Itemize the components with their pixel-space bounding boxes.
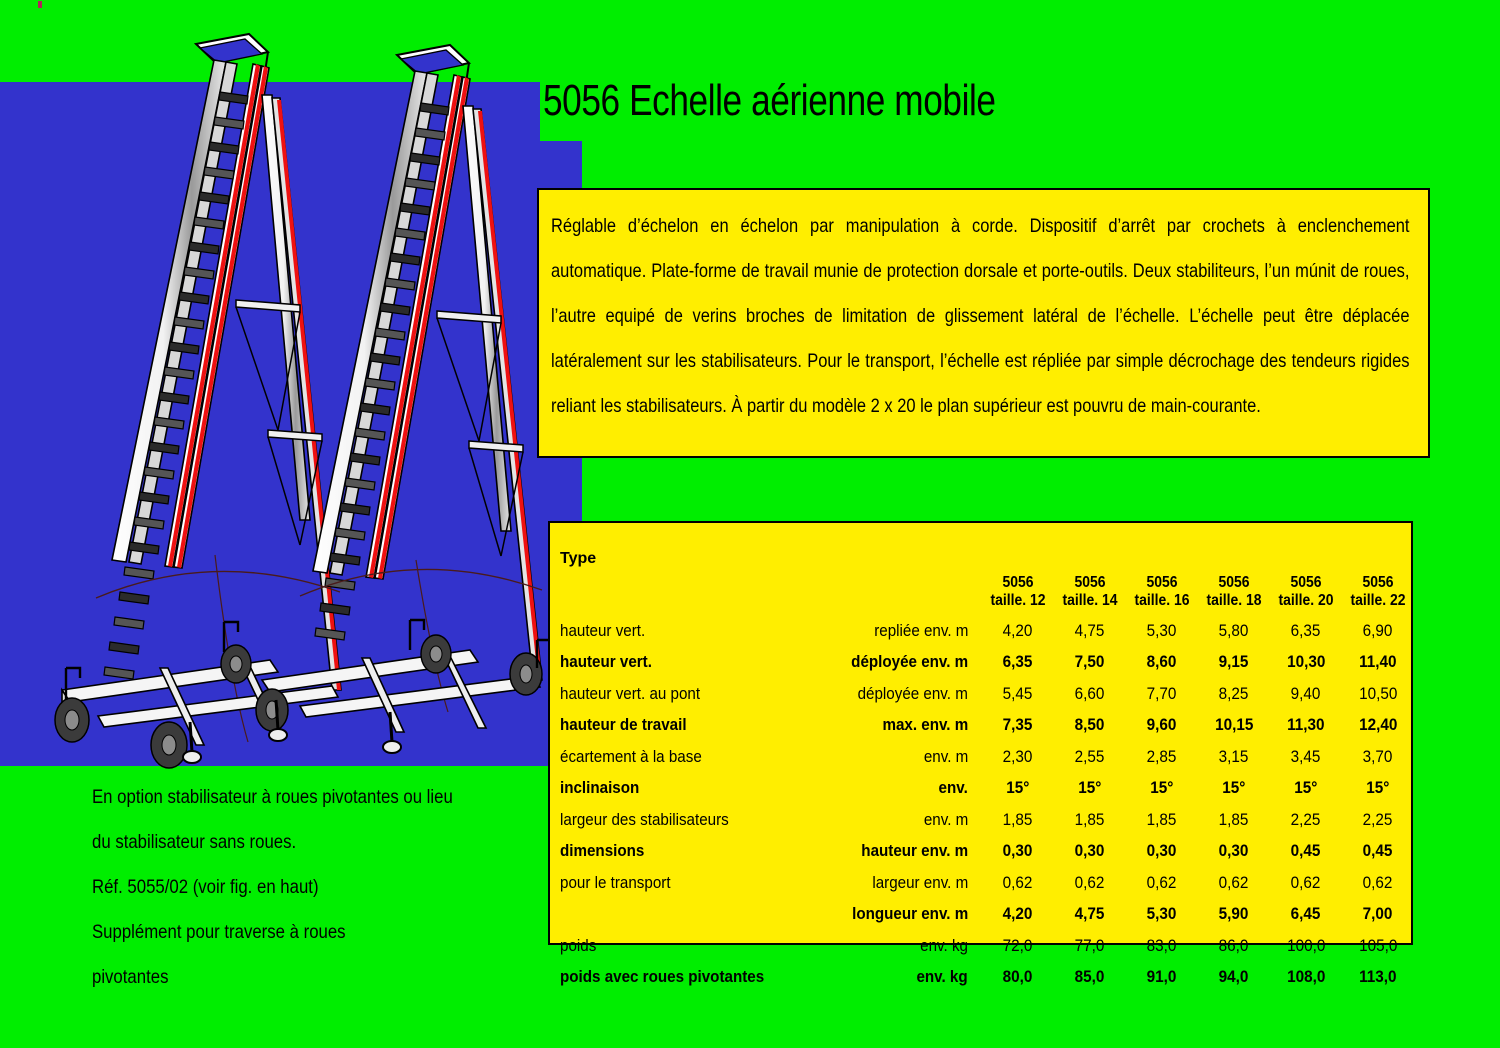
table-cell-value: 15° [1366,778,1389,798]
row-label-text: inclinaison [560,779,639,798]
table-row: pour le transportlargeur env. m0,620,620… [550,861,1414,893]
table-cell: 5,90 [1198,893,1270,925]
table-cell: 77,0 [1054,924,1126,956]
table-cell-value: 15° [1078,778,1101,798]
table-cell-value: 2,85 [1147,747,1177,767]
table-cell: 0,62 [1126,861,1198,893]
model-size: taille. 22 [1346,592,1411,609]
table-cell: 9,40 [1270,672,1342,704]
table-cell: 7,50 [1054,641,1126,673]
row-unit-text: env. m [924,811,968,830]
page-root: 5056 Echelle aérienne mobile Réglable d’… [0,0,1500,1048]
row-unit: longueur env. m [802,893,982,925]
table-cell: 0,62 [1054,861,1126,893]
table-cell-value: 0,62 [1003,873,1033,893]
table-cell: 7,35 [982,704,1054,736]
table-cell: 0,62 [982,861,1054,893]
table-cell-value: 10,50 [1359,684,1397,704]
spec-table-body: hauteur vert.repliée env. m4,204,755,305… [550,609,1414,987]
row-label: hauteur de travail [550,704,802,736]
table-cell: 1,85 [1198,798,1270,830]
row-label: dimensions [550,830,802,862]
row-label-text: hauteur vert. au pont [560,685,700,704]
table-cell: 0,45 [1270,830,1342,862]
table-cell-value: 8,50 [1075,715,1105,735]
table-row: inclinaisonenv.15°15°15°15°15°15° [550,767,1414,799]
table-cell: 7,00 [1342,893,1414,925]
table-cell: 2,25 [1342,798,1414,830]
table-row: écartement à la baseenv. m2,302,552,853,… [550,735,1414,767]
table-cell: 5,80 [1198,609,1270,641]
row-label: inclinaison [550,767,802,799]
table-cell-value: 11,40 [1359,652,1396,672]
column-header-model-2: 5056 taille. 16 [1126,523,1198,609]
table-cell-value: 5,30 [1147,621,1177,641]
row-label-text: hauteur vert. [560,622,645,641]
table-cell: 100,0 [1270,924,1342,956]
table-cell-value: 6,35 [1291,621,1321,641]
caption-line: du stabilisateur sans roues. [92,820,479,865]
table-cell: 0,30 [982,830,1054,862]
table-cell: 15° [982,767,1054,799]
table-cell-value: 5,45 [1003,684,1033,704]
table-cell: 8,50 [1054,704,1126,736]
model-code: 5056 [986,574,1051,591]
table-cell-value: 10,15 [1215,715,1253,735]
table-cell: 10,30 [1270,641,1342,673]
row-unit: hauteur env. m [802,830,982,862]
row-unit: env. kg [802,924,982,956]
row-unit: env. [802,767,982,799]
row-unit: env. kg [802,956,982,988]
column-header-model-5: 5056 taille. 22 [1342,523,1414,609]
table-cell-value: 5,30 [1147,904,1177,924]
row-label: hauteur vert. au pont [550,672,802,704]
table-cell: 105,0 [1342,924,1414,956]
caption-line: En option stabilisateur à roues pivotant… [92,775,479,820]
table-cell-value: 8,25 [1219,684,1249,704]
table-cell: 10,50 [1342,672,1414,704]
table-cell: 8,60 [1126,641,1198,673]
table-cell: 108,0 [1270,956,1342,988]
row-unit-text: env. kg [917,968,968,987]
table-cell: 15° [1270,767,1342,799]
table-cell-value: 6,45 [1291,904,1321,924]
table-row: hauteur vert.repliée env. m4,204,755,305… [550,609,1414,641]
model-size: taille. 16 [1130,592,1195,609]
table-cell: 15° [1198,767,1270,799]
table-cell-value: 5,80 [1219,621,1249,641]
table-cell: 4,20 [982,893,1054,925]
row-unit-text: env. m [924,748,968,767]
row-label-text: largeur des stabilisateurs [560,811,729,830]
table-cell-value: 15° [1006,778,1029,798]
row-unit: max. env. m [802,704,982,736]
row-unit-text: repliée env. m [874,622,968,641]
table-cell-value: 0,30 [1075,841,1105,861]
table-cell-value: 0,30 [1219,841,1249,861]
caption-line: Réf. 5055/02 (voir fig. en haut) [92,865,479,910]
table-cell-value: 1,85 [1075,810,1105,830]
table-cell-value: 113,0 [1359,967,1396,987]
table-cell-value: 4,20 [1003,621,1033,641]
spec-table-box: Type 5056 taille. 12 5056 taille. 14 505… [548,521,1413,945]
table-cell: 4,20 [982,609,1054,641]
table-cell: 6,90 [1342,609,1414,641]
table-cell: 6,45 [1270,893,1342,925]
table-row: longueur env. m4,204,755,305,906,457,00 [550,893,1414,925]
table-cell: 2,25 [1270,798,1342,830]
model-size: taille. 20 [1274,592,1339,609]
table-cell: 1,85 [982,798,1054,830]
table-cell: 0,62 [1270,861,1342,893]
table-cell-value: 4,75 [1075,904,1105,924]
table-cell-value: 15° [1222,778,1245,798]
table-cell-value: 7,00 [1363,904,1393,924]
row-unit: env. m [802,798,982,830]
table-cell-value: 105,0 [1359,936,1397,956]
table-cell: 113,0 [1342,956,1414,988]
table-cell: 0,62 [1198,861,1270,893]
table-cell: 0,30 [1126,830,1198,862]
table-cell-value: 0,62 [1219,873,1249,893]
table-cell-value: 3,45 [1291,747,1321,767]
row-label-text: poids avec roues pivotantes [560,968,764,987]
table-cell: 3,15 [1198,735,1270,767]
row-unit-text: hauteur env. m [861,842,968,861]
table-cell: 2,85 [1126,735,1198,767]
table-cell-value: 9,40 [1291,684,1321,704]
table-cell-value: 0,30 [1003,841,1033,861]
table-cell: 80,0 [982,956,1054,988]
table-cell: 2,30 [982,735,1054,767]
table-cell-value: 85,0 [1075,967,1105,987]
table-cell: 9,60 [1126,704,1198,736]
table-cell-value: 0,62 [1075,873,1105,893]
table-cell-value: 4,20 [1003,904,1033,924]
table-cell: 6,35 [982,641,1054,673]
model-code: 5056 [1274,574,1339,591]
table-cell: 0,30 [1054,830,1126,862]
table-cell-value: 1,85 [1219,810,1249,830]
table-cell-value: 100,0 [1287,936,1325,956]
table-cell: 11,30 [1270,704,1342,736]
row-unit: déployée env. m [802,641,982,673]
table-cell: 0,45 [1342,830,1414,862]
table-cell-value: 2,25 [1291,810,1321,830]
table-cell: 11,40 [1342,641,1414,673]
page-title: 5056 Echelle aérienne mobile [543,78,996,124]
row-label-text: hauteur vert. [560,653,652,672]
model-code: 5056 [1130,574,1195,591]
column-header-type: Type [550,523,802,609]
option-caption: En option stabilisateur à roues pivotant… [92,775,542,1000]
table-cell: 1,85 [1054,798,1126,830]
table-cell-value: 0,30 [1147,841,1177,861]
row-label: largeur des stabilisateurs [550,798,802,830]
row-unit-text: déployée env. m [851,653,968,672]
column-header-model-0: 5056 taille. 12 [982,523,1054,609]
table-cell-value: 77,0 [1075,936,1105,956]
table-cell-value: 91,0 [1147,967,1177,987]
table-cell: 5,30 [1126,893,1198,925]
row-label: hauteur vert. [550,641,802,673]
row-label-text: hauteur de travail [560,716,687,735]
table-cell-value: 6,35 [1003,652,1033,672]
table-cell: 12,40 [1342,704,1414,736]
table-row: poidsenv. kg72,077,083,086,0100,0105,0 [550,924,1414,956]
model-size: taille. 14 [1058,592,1123,609]
model-size: taille. 12 [986,592,1051,609]
table-cell-value: 1,85 [1147,810,1177,830]
table-cell-value: 15° [1294,778,1317,798]
row-label: pour le transport [550,861,802,893]
table-cell: 5,45 [982,672,1054,704]
table-cell: 15° [1054,767,1126,799]
table-cell-value: 11,30 [1287,715,1324,735]
model-code: 5056 [1058,574,1123,591]
row-unit: repliée env. m [802,609,982,641]
table-cell: 4,75 [1054,893,1126,925]
table-cell-value: 0,62 [1363,873,1393,893]
table-cell-value: 7,35 [1003,715,1033,735]
row-label-text: écartement à la base [560,748,702,767]
table-cell: 7,70 [1126,672,1198,704]
table-row: largeur des stabilisateursenv. m1,851,85… [550,798,1414,830]
table-row: hauteur de travailmax. env. m7,358,509,6… [550,704,1414,736]
table-cell: 0,30 [1198,830,1270,862]
description-text: Réglable d’échelon en échelon par manipu… [551,204,1409,429]
table-cell-value: 72,0 [1003,936,1033,956]
row-label-text: poids [560,937,596,956]
table-cell: 9,15 [1198,641,1270,673]
table-cell-value: 0,62 [1291,873,1321,893]
table-cell: 3,45 [1270,735,1342,767]
row-label [550,893,802,925]
row-label: hauteur vert. [550,609,802,641]
column-header-model-3: 5056 taille. 18 [1198,523,1270,609]
table-cell-value: 83,0 [1147,936,1177,956]
table-row: hauteur vert. au pontdéployée env. m5,45… [550,672,1414,704]
table-cell: 10,15 [1198,704,1270,736]
row-unit: env. m [802,735,982,767]
row-unit-text: largeur env. m [872,874,968,893]
table-cell: 15° [1126,767,1198,799]
table-cell-value: 3,15 [1219,747,1249,767]
table-cell-value: 2,25 [1363,810,1393,830]
table-cell: 83,0 [1126,924,1198,956]
table-cell: 91,0 [1126,956,1198,988]
row-label-text: pour le transport [560,874,671,893]
column-header-unit-spacer [802,523,982,609]
row-label: poids avec roues pivotantes [550,956,802,988]
row-label: poids [550,924,802,956]
table-cell: 1,85 [1126,798,1198,830]
table-cell-value: 15° [1150,778,1173,798]
table-cell-value: 86,0 [1219,936,1249,956]
column-header-model-1: 5056 taille. 14 [1054,523,1126,609]
row-unit: largeur env. m [802,861,982,893]
row-unit-text: env. [939,779,968,798]
table-cell-value: 4,75 [1075,621,1105,641]
row-unit-text: déployée env. m [858,685,968,704]
row-unit-text: longueur env. m [852,905,968,924]
row-unit-text: env. kg [920,937,968,956]
table-cell: 5,30 [1126,609,1198,641]
table-cell-value: 7,50 [1075,652,1105,672]
table-cell-value: 80,0 [1003,967,1033,987]
column-header-model-4: 5056 taille. 20 [1270,523,1342,609]
table-cell: 94,0 [1198,956,1270,988]
table-cell-value: 6,90 [1363,621,1393,641]
row-unit-text: max. env. m [882,716,968,735]
table-cell-value: 7,70 [1147,684,1177,704]
table-cell-value: 9,15 [1219,652,1249,672]
table-cell: 6,60 [1054,672,1126,704]
table-cell: 3,70 [1342,735,1414,767]
table-cell: 8,25 [1198,672,1270,704]
table-row: dimensionshauteur env. m0,300,300,300,30… [550,830,1414,862]
table-cell: 86,0 [1198,924,1270,956]
description-box: Réglable d’échelon en échelon par manipu… [537,188,1430,458]
model-size: taille. 18 [1202,592,1267,609]
model-code: 5056 [1202,574,1267,591]
table-cell-value: 5,90 [1219,904,1249,924]
table-cell-value: 1,85 [1003,810,1033,830]
table-cell-value: 9,60 [1147,715,1177,735]
table-cell: 15° [1342,767,1414,799]
table-row: hauteur vert.déployée env. m6,357,508,60… [550,641,1414,673]
row-label: écartement à la base [550,735,802,767]
table-cell-value: 10,30 [1287,652,1325,672]
table-cell-value: 8,60 [1147,652,1177,672]
table-cell: 72,0 [982,924,1054,956]
table-cell-value: 6,60 [1075,684,1105,704]
table-cell: 0,62 [1342,861,1414,893]
ladder-illustration [0,0,600,790]
table-row: poids avec roues pivotantesenv. kg80,085… [550,956,1414,988]
table-cell: 85,0 [1054,956,1126,988]
table-cell-value: 2,55 [1075,747,1105,767]
table-cell: 4,75 [1054,609,1126,641]
table-cell-value: 0,45 [1291,841,1321,861]
table-cell-value: 94,0 [1219,967,1249,987]
table-cell-value: 0,62 [1147,873,1177,893]
caption-line: Supplément pour traverse à roues [92,910,479,955]
table-cell-value: 0,45 [1363,841,1393,861]
caption-line: pivotantes [92,955,479,1000]
table-cell: 2,55 [1054,735,1126,767]
table-cell-value: 12,40 [1359,715,1397,735]
row-label-text: dimensions [560,842,644,861]
table-cell-value: 108,0 [1287,967,1325,987]
spec-table: Type 5056 taille. 12 5056 taille. 14 505… [550,523,1414,987]
table-cell: 6,35 [1270,609,1342,641]
table-cell-value: 2,30 [1003,747,1033,767]
table-header-row: Type 5056 taille. 12 5056 taille. 14 505… [550,523,1414,609]
row-unit: déployée env. m [802,672,982,704]
table-cell-value: 3,70 [1363,747,1393,767]
model-code: 5056 [1346,574,1411,591]
